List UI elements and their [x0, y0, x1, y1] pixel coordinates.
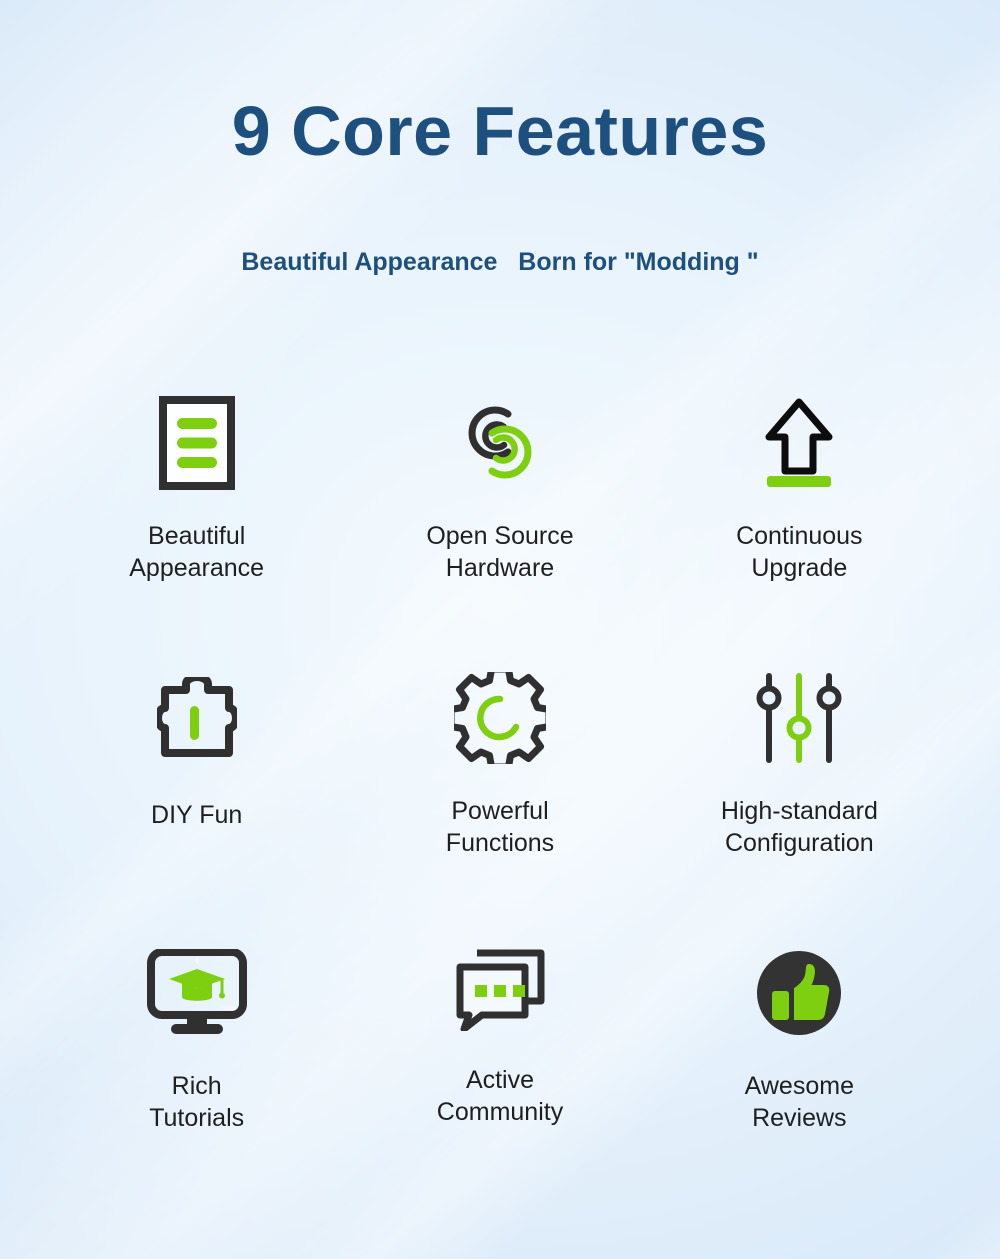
feature-overview-page: 9 Core Features Beautiful Appearance Bor… — [0, 0, 1000, 1259]
thumbs-up-icon — [756, 938, 842, 1048]
document-list-icon — [159, 388, 235, 498]
open-source-spiral-icon — [452, 388, 548, 498]
feature-item-diy-fun: DIY Fun — [50, 663, 343, 938]
page-subtitle: Beautiful Appearance Born for "Modding " — [0, 248, 1000, 277]
feature-label: Open Source Hardware — [426, 520, 573, 584]
feature-item-active-community: Active Community — [353, 938, 646, 1213]
feature-item-continuous-upgrade: Continuous Upgrade — [653, 388, 946, 663]
puzzle-piece-icon — [157, 663, 237, 773]
feature-item-rich-tutorials: Rich Tutorials — [50, 938, 343, 1213]
feature-grid: Beautiful Appearance — [60, 388, 940, 1213]
feature-item-open-source-hardware: Open Source Hardware — [353, 388, 646, 663]
feature-label: Awesome Reviews — [745, 1070, 854, 1134]
chat-bubbles-icon — [455, 938, 545, 1042]
feature-item-awesome-reviews: Awesome Reviews — [653, 938, 946, 1213]
monitor-graduation-cap-icon — [147, 938, 247, 1048]
feature-label: DIY Fun — [151, 799, 242, 831]
feature-label: Continuous Upgrade — [736, 520, 862, 584]
feature-label: Rich Tutorials — [149, 1070, 244, 1134]
gear-icon — [454, 663, 546, 773]
up-arrow-upgrade-icon — [759, 388, 839, 498]
feature-item-high-standard-configuration: High-standard Configuration — [653, 663, 946, 938]
feature-item-powerful-functions: Powerful Functions — [353, 663, 646, 938]
feature-label: High-standard Configuration — [721, 795, 878, 859]
feature-item-beautiful-appearance: Beautiful Appearance — [50, 388, 343, 663]
feature-label: Active Community — [437, 1064, 563, 1128]
feature-label: Beautiful Appearance — [129, 520, 264, 584]
feature-label: Powerful Functions — [446, 795, 554, 859]
sliders-icon — [754, 663, 844, 773]
page-title: 9 Core Features — [0, 96, 1000, 166]
